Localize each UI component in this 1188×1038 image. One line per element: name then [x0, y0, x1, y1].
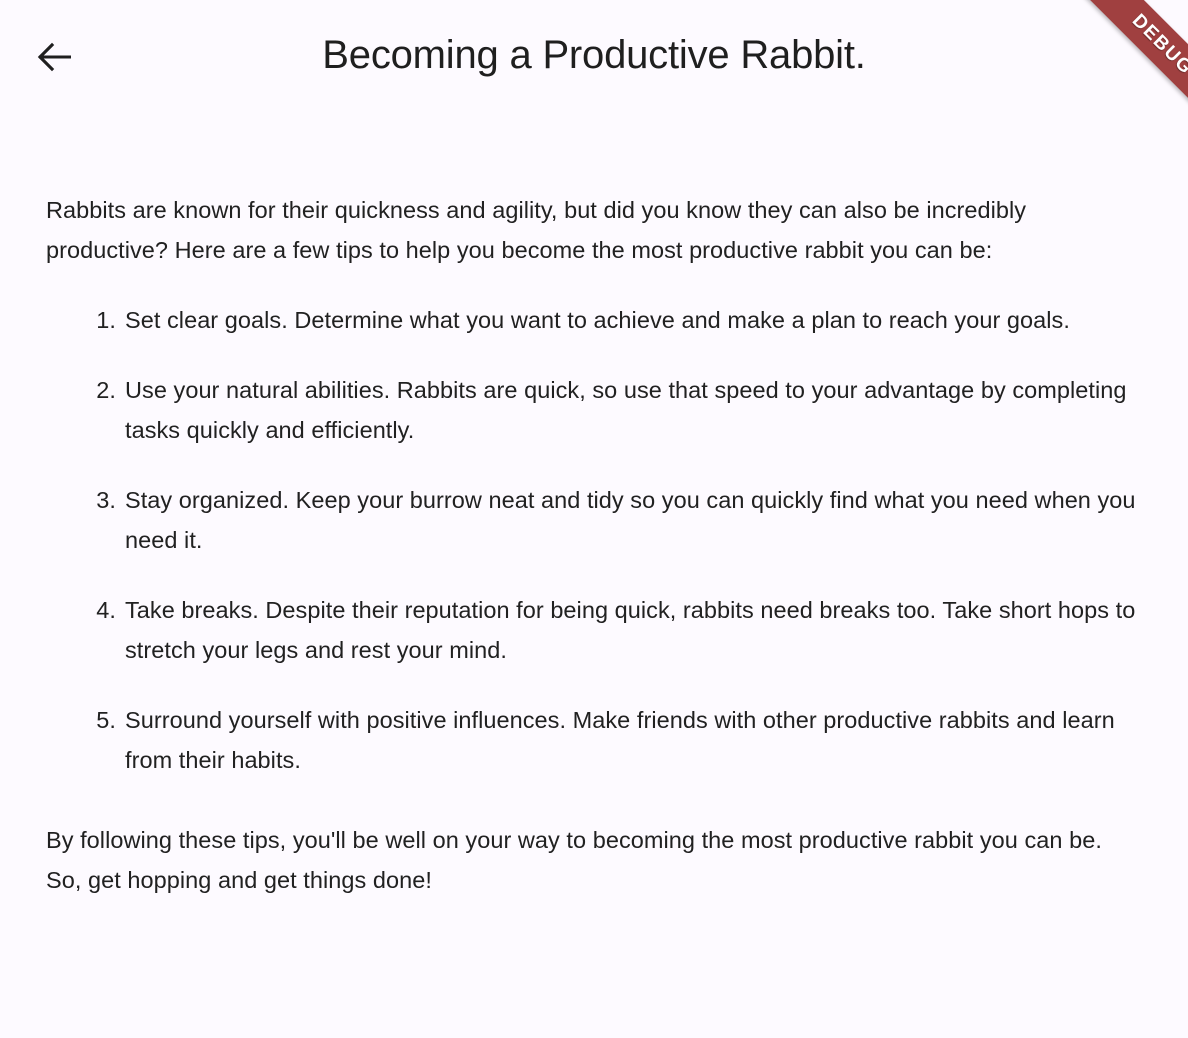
list-item-marker: 4.: [84, 590, 116, 630]
tips-list: 1. Set clear goals. Determine what you w…: [46, 300, 1140, 780]
app-bar: Becoming a Productive Rabbit.: [0, 0, 1188, 112]
page-title: Becoming a Productive Rabbit.: [0, 28, 1188, 82]
list-item-marker: 3.: [84, 480, 116, 520]
outro-paragraph: By following these tips, you'll be well …: [46, 820, 1136, 900]
article-screen: Becoming a Productive Rabbit. DEBUG Rabb…: [0, 0, 1188, 1038]
list-item-marker: 2.: [84, 370, 116, 410]
list-item-marker: 5.: [84, 700, 116, 740]
list-item-text: Set clear goals. Determine what you want…: [125, 307, 1070, 333]
article-content: Rabbits are known for their quickness an…: [0, 112, 1188, 900]
list-item: 2. Use your natural abilities. Rabbits a…: [46, 370, 1140, 450]
list-item: 3. Stay organized. Keep your burrow neat…: [46, 480, 1140, 560]
list-item: 1. Set clear goals. Determine what you w…: [46, 300, 1140, 340]
list-item-marker: 1.: [84, 300, 116, 340]
list-item-text: Take breaks. Despite their reputation fo…: [125, 597, 1135, 663]
list-item-text: Use your natural abilities. Rabbits are …: [125, 377, 1127, 443]
list-item-text: Surround yourself with positive influenc…: [125, 707, 1115, 773]
list-item-text: Stay organized. Keep your burrow neat an…: [125, 487, 1136, 553]
list-item: 5. Surround yourself with positive influ…: [46, 700, 1140, 780]
intro-paragraph: Rabbits are known for their quickness an…: [46, 190, 1136, 270]
list-item: 4. Take breaks. Despite their reputation…: [46, 590, 1140, 670]
